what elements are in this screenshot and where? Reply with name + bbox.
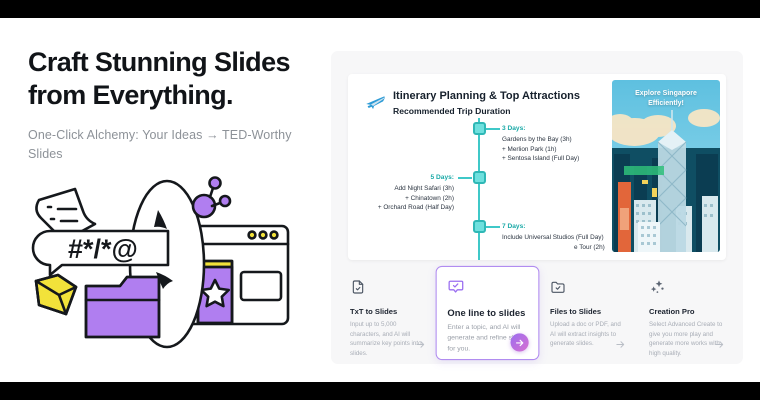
molecule-illustration [193, 178, 230, 218]
feature-card-list: TxT to Slides Input up to 5,000 characte… [338, 269, 736, 357]
timeline-line: e Tour (2h) [502, 243, 605, 253]
poster-headline-line-1: Explore Singapore [635, 90, 697, 97]
arrow-right-icon[interactable] [615, 339, 626, 350]
feature-card-description: Select Advanced Create to give you more … [649, 320, 724, 358]
folder-check-icon [550, 279, 566, 295]
timeline-line: Include Universal Studios (Full Day) [502, 233, 605, 243]
feature-card-title: TxT to Slides [350, 307, 425, 316]
timeline-line: Gardens by the Bay (3h) [502, 135, 579, 145]
timeline-node-2 [473, 171, 486, 184]
feature-card-title: Files to Slides [550, 307, 625, 316]
timeline-lines-1: Gardens by the Bay (3h) + Merlion Park (… [502, 135, 579, 164]
preview-panel: Itinerary Planning & Top Attractions Rec… [331, 51, 743, 364]
page-title: Craft Stunning Slides from Everything. [28, 46, 318, 112]
folder-illustration [86, 277, 159, 337]
letterbox-bottom-bar [0, 382, 760, 400]
letterbox-top-bar [0, 0, 760, 18]
poster-headline-line-2: Efficiently! [648, 100, 684, 107]
feature-card-one-line-to-slides[interactable]: One line to slides Enter a topic, and AI… [436, 266, 540, 360]
feature-card-description: Input up to 5,000 characters, and AI wil… [350, 320, 425, 358]
hero-section: Craft Stunning Slides from Everything. O… [28, 46, 318, 165]
timeline-lines-2: Add Night Safari (3h) + Chinatown (2h) +… [348, 184, 454, 213]
feature-card-txt-to-slides[interactable]: TxT to Slides Input up to 5,000 characte… [340, 269, 435, 357]
feature-card-title: Creation Pro [649, 307, 724, 316]
feature-card-arrow-button[interactable] [511, 333, 529, 351]
feature-card-creation-pro[interactable]: Creation Pro Select Advanced Create to g… [639, 269, 734, 357]
timeline-label-3: 7 Days: [502, 223, 525, 230]
timeline-line: Add Night Safari (3h) [348, 184, 454, 194]
feature-card-description: Upload a doc or PDF, and AI will extract… [550, 320, 625, 349]
timeline-connector-3 [486, 226, 500, 228]
hero-illustration: #*/*@ [12, 168, 312, 353]
document-check-icon [350, 279, 366, 295]
timeline-line: + Merlion Park (1h) [502, 145, 579, 155]
sparkles-icon [649, 279, 665, 295]
timeline-lines-3: Include Universal Studios (Full Day) e T… [502, 233, 605, 252]
hero-title-line-2: from Everything. [28, 80, 233, 110]
poster-image: Explore Singapore Efficiently! [612, 80, 720, 252]
arrow-right-icon [514, 337, 525, 348]
timeline-node-3 [473, 220, 486, 233]
svg-text:#*/*@: #*/*@ [68, 234, 138, 264]
timeline-line: + Orchard Road (Half Day) [348, 203, 454, 213]
hero-subtitle: One-Click Alchemy: Your Ideas → TED-Wort… [28, 126, 318, 165]
chat-check-icon [447, 278, 464, 295]
timeline-label-1: 3 Days: [502, 125, 525, 132]
arrow-right-icon[interactable] [415, 339, 426, 350]
page-canvas: Craft Stunning Slides from Everything. O… [0, 18, 760, 382]
arrow-right-icon[interactable] [714, 339, 725, 350]
timeline-connector-1 [486, 128, 500, 130]
poster-headline: Explore Singapore Efficiently! [612, 89, 720, 109]
feature-card-title: One line to slides [447, 308, 527, 319]
timeline-connector-2 [458, 177, 472, 179]
screenshot-stage: Craft Stunning Slides from Everything. O… [0, 0, 760, 400]
timeline-node-1 [473, 122, 486, 135]
timeline-spine [478, 118, 480, 260]
hero-title-line-1: Craft Stunning Slides [28, 47, 290, 77]
timeline-line: + Chinatown (2h) [348, 194, 454, 204]
slide-preview-card[interactable]: Itinerary Planning & Top Attractions Rec… [348, 74, 726, 260]
timeline-line: + Sentosa Island (Full Day) [502, 154, 579, 164]
diamond-illustration [36, 275, 76, 314]
feature-card-files-to-slides[interactable]: Files to Slides Upload a doc or PDF, and… [540, 269, 635, 357]
timeline-label-2: 5 Days: [348, 174, 454, 181]
